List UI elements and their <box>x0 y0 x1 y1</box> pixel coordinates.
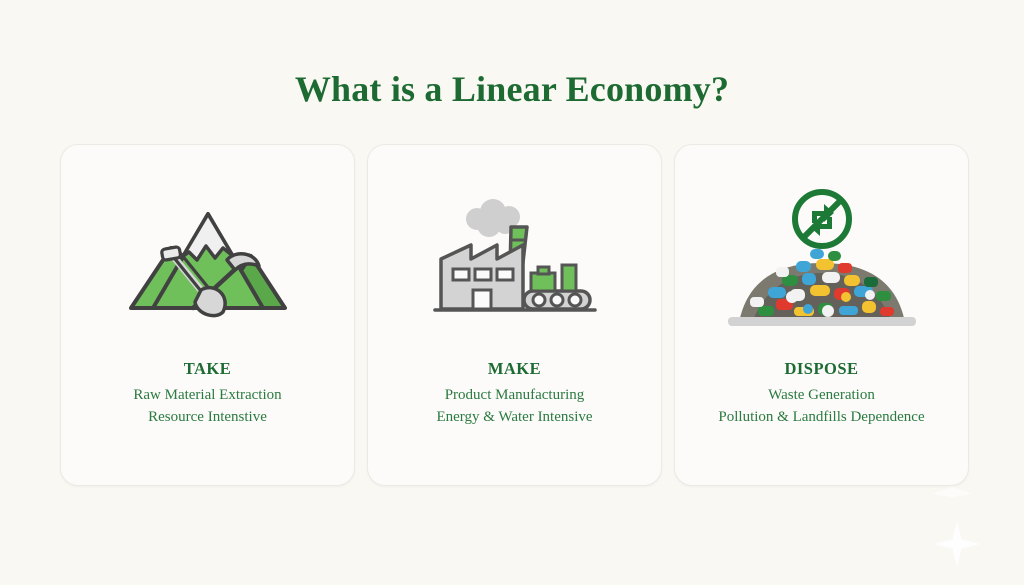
linear-economy-cards: TAKE Raw Material Extraction Resource In… <box>60 144 969 486</box>
card-dispose-line-2: Pollution & Landfills Dependence <box>718 407 924 429</box>
card-make-title: MAKE <box>436 357 592 381</box>
card-make[interactable]: MAKE Product Manufacturing Energy & Wate… <box>367 144 662 486</box>
no-recycle-badge <box>795 192 849 246</box>
card-take-title: TAKE <box>133 357 281 381</box>
card-make-line-1: Product Manufacturing <box>436 385 592 407</box>
card-take[interactable]: TAKE Raw Material Extraction Resource In… <box>60 144 355 486</box>
card-dispose-title: DISPOSE <box>718 357 924 381</box>
factory-conveyor-icon <box>427 167 603 357</box>
mountain-mining-icon <box>123 167 293 357</box>
card-take-line-2: Resource Intenstive <box>133 407 281 429</box>
card-dispose-line-1: Waste Generation <box>718 385 924 407</box>
card-take-body: TAKE Raw Material Extraction Resource In… <box>133 357 281 428</box>
sparkle-four-point-icon <box>934 521 980 567</box>
card-dispose-body: DISPOSE Waste Generation Pollution & Lan… <box>718 357 924 428</box>
page-title: What is a Linear Economy? <box>0 68 1024 110</box>
card-dispose[interactable]: DISPOSE Waste Generation Pollution & Lan… <box>674 144 969 486</box>
card-take-line-1: Raw Material Extraction <box>133 385 281 407</box>
waste-pile-no-recycle-icon <box>724 167 920 357</box>
card-make-body: MAKE Product Manufacturing Energy & Wate… <box>436 357 592 428</box>
card-make-line-2: Energy & Water Intensive <box>436 407 592 429</box>
